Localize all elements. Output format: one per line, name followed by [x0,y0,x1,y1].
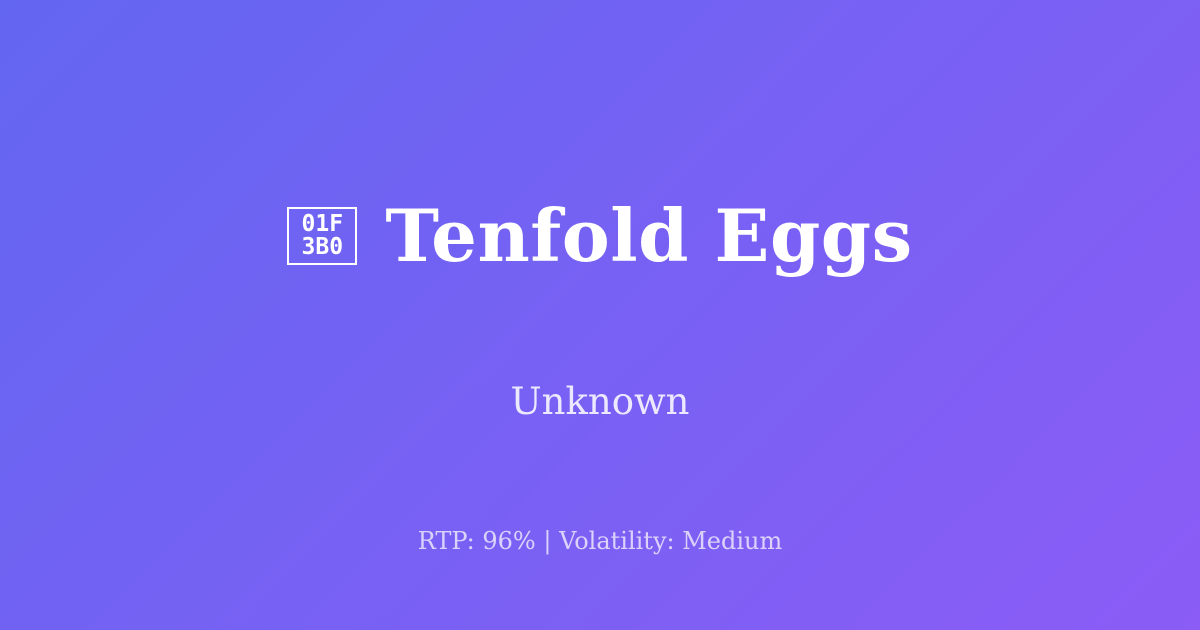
tofu-codepoint-bottom: 3B0 [302,236,344,259]
og-game-card: 01F 3B0 Tenfold Eggs Unknown RTP: 96% | … [0,0,1200,630]
tofu-codepoint-top: 01F [302,213,344,236]
game-stats-line: RTP: 96% | Volatility: Medium [0,527,1200,556]
game-provider-subtitle: Unknown [510,380,689,424]
title-row: 01F 3B0 Tenfold Eggs [0,148,1200,324]
page-title: Tenfold Eggs [385,196,912,275]
slot-machine-icon: 01F 3B0 [287,207,357,265]
